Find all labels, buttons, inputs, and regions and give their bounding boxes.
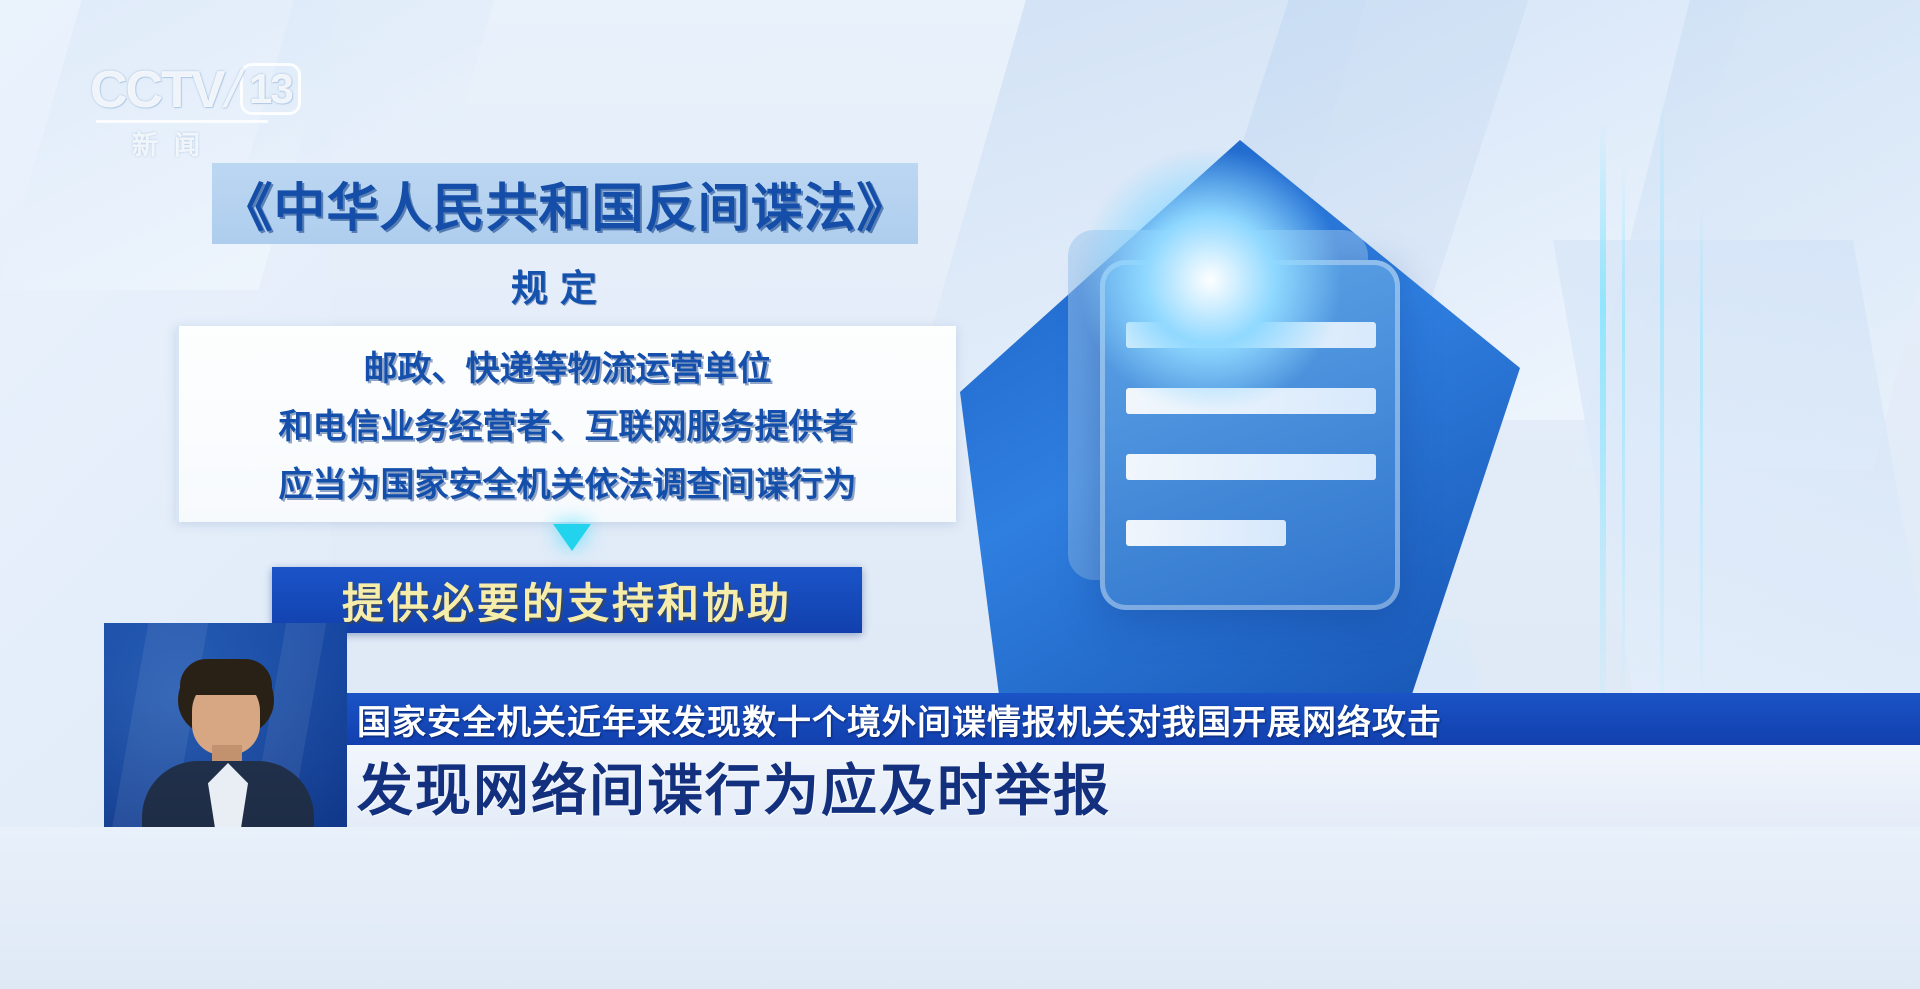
logo-subtitle: 新闻	[132, 125, 305, 162]
headline-text: 发现网络间谍行为应及时举报	[357, 746, 1111, 827]
light-ray-1	[1600, 120, 1606, 740]
light-ray-4	[1700, 200, 1703, 720]
triangle-down-icon	[553, 524, 591, 551]
headline-bar: 发现网络间谍行为应及时举报	[347, 745, 1920, 827]
light-ray-2	[1622, 160, 1625, 720]
law-title: 《中华人民共和国反间谍法》	[212, 163, 918, 244]
provision-line-1: 邮政、快递等物流运营单位	[364, 342, 772, 396]
conclusion-band: 提供必要的支持和协助	[272, 567, 862, 633]
subtitle-guiding: 规定	[0, 258, 1120, 312]
anchor-fringe	[180, 659, 272, 695]
logo-wordmark: CCTV/13	[90, 62, 305, 118]
news-ticker-bar: 国家安全机关近年来发现数十个境外间谍情报机关对我国开展网络攻击	[347, 693, 1920, 745]
document-line	[1126, 454, 1376, 480]
logo-channel-number: 13	[240, 63, 301, 115]
conclusion-text: 提供必要的支持和协助	[342, 570, 792, 631]
provision-line-2: 和电信业务经营者、互联网服务提供者	[279, 400, 857, 454]
logo-underline	[96, 120, 268, 123]
logo-text-cctv: CCTV	[90, 61, 224, 119]
channel-logo: CCTV/13 新闻	[90, 62, 305, 152]
bottom-background	[0, 827, 1920, 989]
provision-line-3: 应当为国家安全机关依法调查间谍行为	[279, 458, 857, 512]
light-ray-3	[1660, 90, 1664, 750]
document-line	[1126, 520, 1286, 546]
provision-card: 邮政、快递等物流运营单位 和电信业务经营者、互联网服务提供者 应当为国家安全机关…	[176, 326, 956, 522]
news-ticker-text: 国家安全机关近年来发现数十个境外间谍情报机关对我国开展网络攻击	[357, 695, 1442, 744]
